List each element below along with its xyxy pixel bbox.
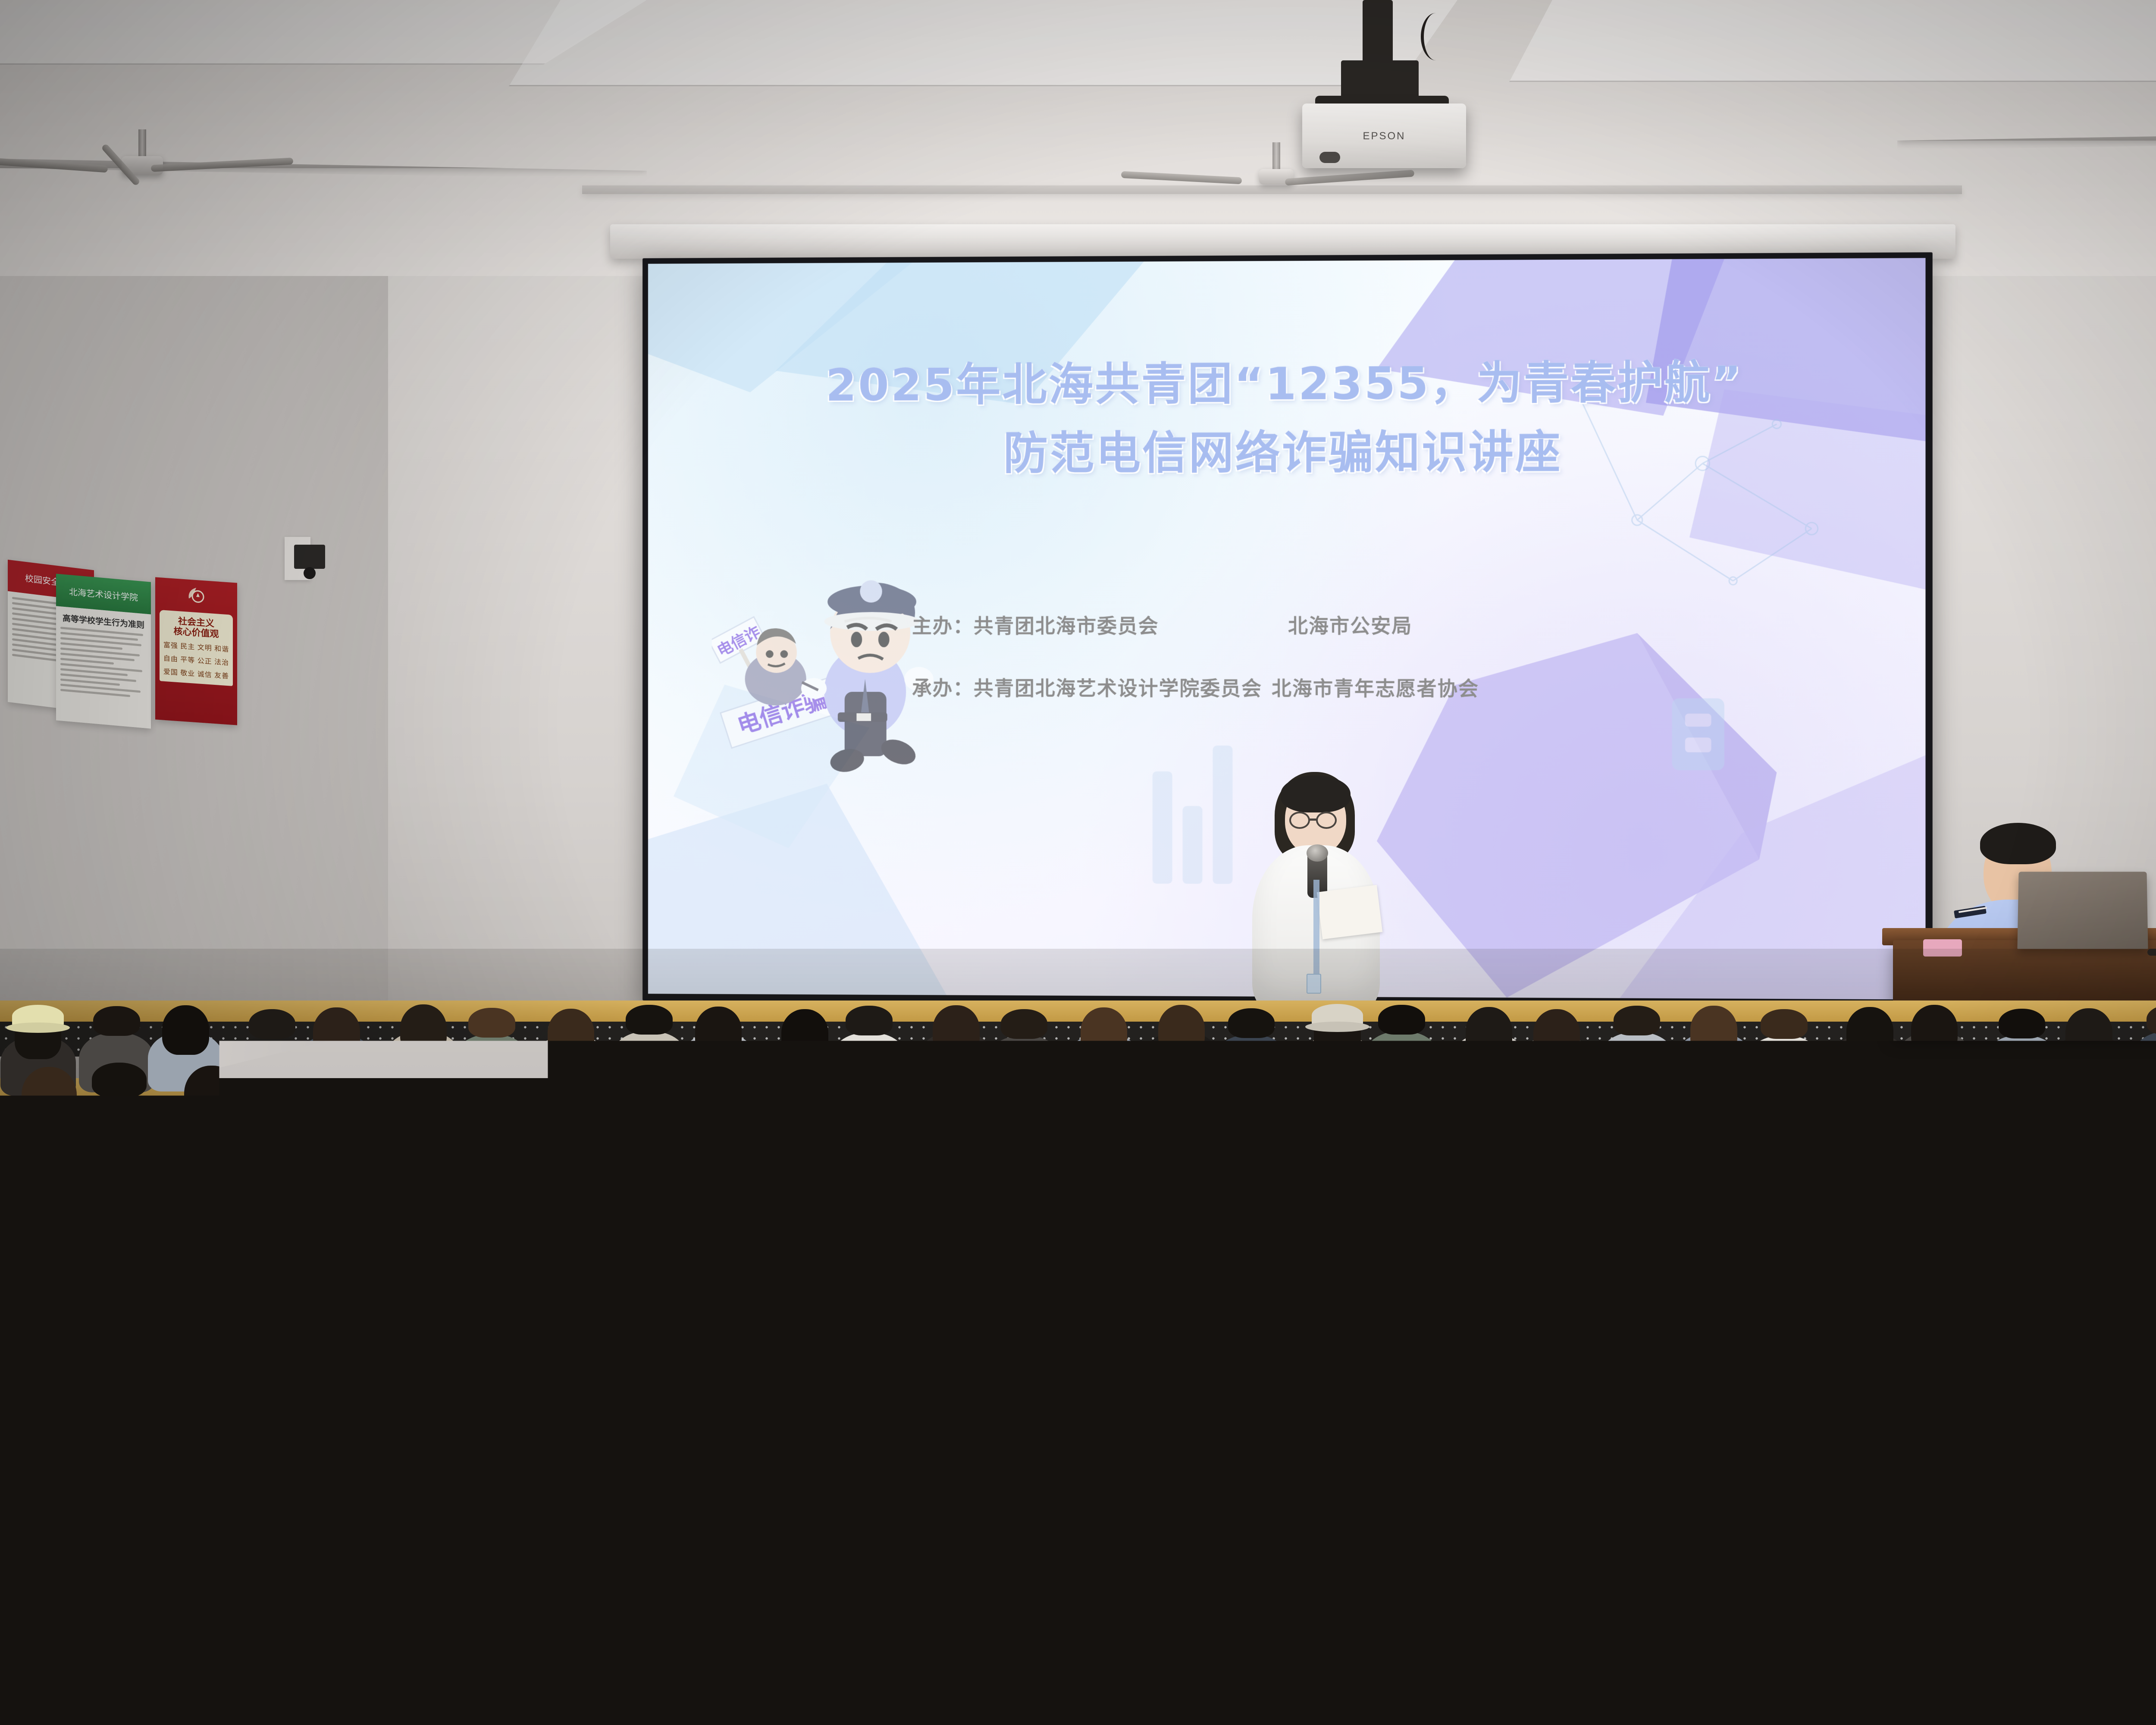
audience-member-hair [541, 1459, 655, 1580]
audience-member-hair [1676, 1066, 1731, 1124]
audience-member-hair [1614, 1006, 1661, 1035]
student-conduct-header: 北海艺术设计学院 [69, 585, 138, 603]
slide-host-label: 主办：共青团北海市委员会 [912, 610, 1159, 639]
audience-member-hair [235, 1333, 329, 1432]
audience-member-hair [1042, 1225, 1119, 1274]
audience-member-hair [172, 1595, 315, 1686]
audience-member-hair [665, 1135, 730, 1177]
audience-member-hair [1968, 1230, 2046, 1312]
audience-member-hair [1228, 1448, 1342, 1568]
audience-member-hair [19, 1137, 84, 1206]
baseball-cap [1312, 1004, 1363, 1027]
audience-member-hair [1844, 1066, 1899, 1124]
audience-member-hair [846, 1006, 893, 1035]
audience-member-hair [274, 1449, 388, 1569]
audience-member-hair [2056, 1450, 2156, 1571]
audience-member-hair [1260, 1064, 1315, 1123]
audience-member-hair [2098, 1065, 2153, 1123]
audience-member-hair [781, 1009, 828, 1059]
audience-member-hair [1190, 1063, 1245, 1098]
audience-member-hair [1909, 1594, 2051, 1685]
audience-member-hair [400, 1004, 447, 1054]
audience-member-hair [1228, 1008, 1275, 1038]
audience-member-hair [1432, 1064, 1487, 1123]
audience-member-hair [1092, 1067, 1147, 1126]
audience-member-hair [390, 1135, 455, 1176]
audience-member-hair [1911, 1005, 1958, 1054]
audience-member-hair [520, 1233, 597, 1282]
audience-member-hair [1301, 1337, 1395, 1436]
audience-member-hair [929, 1063, 984, 1098]
audience-member-hair [468, 1008, 515, 1038]
audience-member-hair [1684, 1139, 1749, 1208]
laptop[interactable] [2017, 872, 2148, 949]
slide-host-secondary: 北海市公安局 [1288, 610, 1412, 639]
audience-member-hair [1022, 1066, 1076, 1124]
audience-member-hair [824, 1333, 918, 1432]
audience-member-hair [438, 1064, 492, 1122]
audience-member-hair [626, 1005, 673, 1035]
audience-member-hair [1765, 1142, 1830, 1183]
audience-member-hair [695, 1007, 742, 1056]
audience-member-hair [313, 1007, 360, 1057]
audience-member-hair [14, 1455, 128, 1576]
slide-organizer-secondary: 北海市青年志愿者协会 [1272, 673, 1479, 701]
audience-member-hair [1570, 1233, 1647, 1282]
audience-member-hair [1037, 1136, 1103, 1205]
audience-member-hair [818, 1449, 932, 1521]
slide-title-line2: 防范电信网络诈骗知识讲座 [648, 414, 1926, 483]
audience-member-hair [2094, 1225, 2156, 1274]
projector: EPSON [1302, 103, 1466, 168]
slide-organizer-row: 承办：共青团北海艺术设计学院委员会 北海市青年志愿者协会 [912, 673, 1479, 702]
audience-member-hair [1605, 1067, 1660, 1102]
audience-member-hair [701, 1600, 843, 1690]
audience-member-hair [5, 1225, 82, 1274]
audience-member-hair [606, 1065, 661, 1123]
audience-member-hair [845, 1232, 922, 1314]
audience-member-hair [1648, 1336, 1741, 1435]
audience-member-hair [928, 1137, 993, 1206]
audience-member-hair [1058, 1330, 1152, 1429]
projector-cable [1421, 13, 1451, 60]
baseball-cap [1877, 1319, 1980, 1365]
audience-member-hair [730, 1226, 807, 1275]
audience-member-hair [1922, 1459, 2036, 1580]
audience-member-hair [92, 1063, 147, 1098]
ceiling-fan-left [52, 129, 233, 194]
audience-member-hair [1761, 1009, 1808, 1039]
core-values-row-2: 自由 平等 公正 法治 [162, 652, 230, 668]
audience-member-hair [1862, 1136, 1927, 1205]
audience-member-hair [1575, 1135, 1640, 1177]
left-wall-speaker [285, 537, 332, 584]
audience-member-hair [317, 1226, 395, 1308]
projector-brand-label: EPSON [1302, 130, 1466, 142]
audience-member-hair [945, 1230, 1022, 1312]
audience-member-hair [222, 1233, 299, 1282]
civilization-emblem-icon [185, 585, 208, 608]
audience-member-hair [1158, 1005, 1205, 1054]
slide-organizer-label: 承办：共青团北海艺术设计学院委员会 [912, 673, 1262, 701]
audience-member-hair [933, 1005, 980, 1055]
baseball-cap [12, 1005, 64, 1028]
audience-member-hair [2147, 1005, 2156, 1035]
audience-member-hair [1466, 1007, 1513, 1057]
audience-member-hair [1454, 1228, 1531, 1310]
baseball-cap [1240, 1225, 1326, 1262]
audience-member-hair [1514, 1063, 1568, 1121]
audience-member-hair [2016, 1063, 2071, 1098]
audience-member-hair [479, 1335, 572, 1434]
audience-member-hair [1690, 1006, 1737, 1055]
audience-member-hair [1938, 1067, 1993, 1126]
audience-member-hair [22, 1067, 76, 1125]
audience-member-hair [1533, 1009, 1580, 1059]
audience-member-hair [0, 1330, 94, 1389]
lecture-hall-photo: EPSON [0, 0, 2156, 1725]
audience-member-hair [1001, 1009, 1048, 1039]
audience-member-hair [472, 1140, 537, 1209]
audience-member-hair [849, 1066, 903, 1125]
baseball-cap [1772, 1057, 1832, 1084]
core-values-poster: 社会主义 核心价值观 富强 民主 文明 和谐 自由 平等 公正 法治 爱国 敬业… [155, 577, 237, 725]
audience-member-hair [1034, 1596, 1177, 1687]
audience-member-hair [567, 1141, 633, 1210]
audience-member-hair [98, 1136, 163, 1205]
projector-lens [1319, 152, 1340, 163]
audience-member-hair [2095, 1589, 2156, 1725]
projector-mount-bracket [1341, 60, 1419, 99]
audience-member-hair [769, 1067, 824, 1102]
audience-member-hair [1119, 1142, 1184, 1183]
audience-member-hair [1354, 1068, 1408, 1103]
audience-member-hair [676, 1063, 730, 1121]
audience-member-hair [249, 1009, 296, 1039]
student-conduct-poster: 北海艺术设计学院 高等学校学生行为准则 [56, 574, 151, 728]
audience-member-hair [1311, 1135, 1376, 1177]
audience-member-hair [1999, 1009, 2046, 1038]
audience-member-hair [120, 1230, 197, 1312]
baseball-cap [342, 1058, 402, 1085]
audience-member-hair [1494, 1458, 1608, 1530]
audience-member-hair [265, 1068, 320, 1126]
audience-member-hair [1378, 1005, 1425, 1035]
audience-member-hair [2124, 1337, 2156, 1396]
audience-member-hair [1215, 1138, 1280, 1207]
audience-member [129, 1595, 358, 1725]
audience-member-hair [598, 1336, 692, 1395]
audience-member-hair [2040, 1142, 2105, 1183]
audience-member-hair [1958, 1137, 2023, 1206]
slide-host-row: 主办：共青团北海市委员会 北海市公安局 [912, 610, 1412, 639]
projector-mount-pole [1363, 0, 1393, 65]
audience-member-hair [1392, 1141, 1457, 1210]
audience-member-hair [162, 1005, 209, 1055]
audience-member-hair [1846, 1007, 1893, 1057]
audience-member-hair [282, 1139, 347, 1208]
audience-member-hair [1736, 1603, 1878, 1725]
presenter-script [1317, 885, 1382, 939]
audience-member-hair [2065, 1008, 2112, 1058]
audience-member [2052, 1589, 2156, 1725]
audience-member-hair [1767, 1226, 1845, 1275]
core-values-row-1: 富强 民主 文明 和谐 [162, 639, 230, 654]
audience-member-hair [1771, 1452, 1885, 1525]
audience-member-hair [93, 1006, 140, 1036]
slide-title-line1: 2025年北海共青团“12355，为青春护航” [648, 345, 1926, 414]
baseball-cap [742, 1132, 814, 1164]
audience-member-hair [1669, 1227, 1746, 1309]
audience-member-hair [1081, 1007, 1128, 1057]
audience-member-hair [1422, 1332, 1516, 1431]
presenter-glasses [1289, 812, 1310, 829]
audience-member [1336, 1590, 1565, 1725]
audience-member-hair [1379, 1590, 1522, 1725]
audience-member-hair [508, 1068, 562, 1103]
anti-fraud-police-mascot: 电信诈骗 电信诈 [712, 537, 951, 778]
core-values-row-3: 爱国 敬业 诚信 友善 [162, 666, 230, 681]
audience-member-hair [548, 1009, 595, 1058]
audience-member-hair [968, 1458, 1082, 1579]
audience-member [991, 1596, 1220, 1725]
audience-member-hair [184, 1066, 239, 1124]
audience-member-hair [529, 1600, 671, 1725]
